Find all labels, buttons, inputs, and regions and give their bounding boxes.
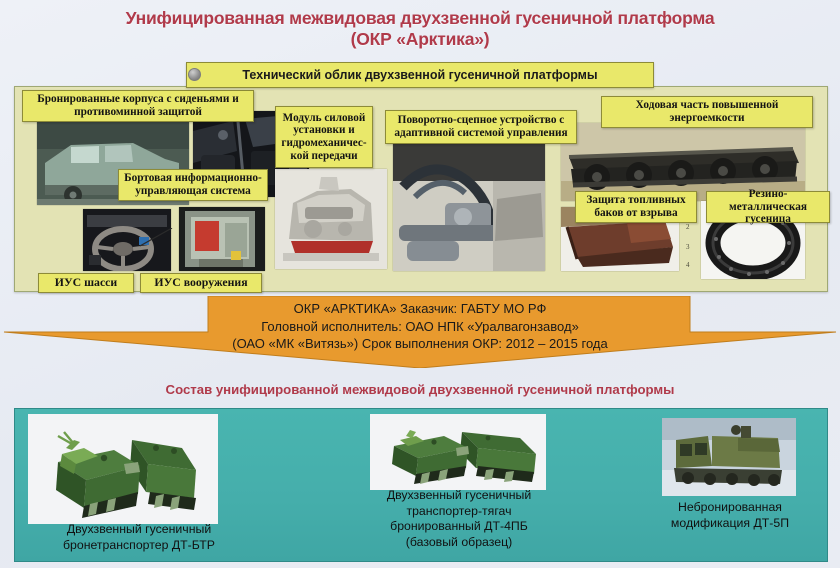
caption-dt-4pb: Двухзвенный гусеничный транспортер-тягач…: [330, 488, 588, 550]
caption-dt-btr: Двухзвенный гусеничный бронетранспортер …: [14, 522, 264, 553]
slide-root: Унифицированная межвидовая двухзвенной г…: [0, 0, 840, 568]
caption-dt-5p-line-1: Небронированная: [630, 500, 830, 516]
title-line-2: (ОКР «Арктика»): [0, 29, 840, 50]
title-line-1: Унифицированная межвидовая двухзвенной г…: [126, 8, 715, 28]
label-running-gear: Ходовая часть повышенной энергоемкости: [601, 96, 813, 128]
label-armored-hull: Бронированные корпуса с сиденьями и прот…: [22, 90, 254, 122]
caption-dt-4pb-line-4: (базовый образец): [330, 535, 588, 551]
caption-dt-4pb-line-1: Двухзвенный гусеничный: [330, 488, 588, 504]
vehicle-image-dt-4pb: [370, 414, 546, 490]
label-running-gear-text: Ходовая часть повышенной энергоемкости: [605, 99, 809, 124]
screw-head-icon: [188, 68, 201, 81]
caption-dt-4pb-line-3: бронированный ДТ-4ПБ: [330, 519, 588, 535]
label-ius-armament: ИУС вооружения: [140, 273, 262, 293]
label-fuel-tank-protection-text: Защита топливных баков от взрыва: [579, 194, 693, 219]
vehicle-image-dt-5p: [662, 418, 796, 496]
label-ius-chassis-text: ИУС шасси: [55, 276, 117, 289]
photo-ius-armament-station: [179, 207, 265, 271]
tick-mark-2: 2: [686, 223, 690, 231]
contract-line-3: (ОАО «МК «Витязь») Срок выполнения ОКР: …: [0, 335, 840, 353]
label-coupling-device-text: Поворотно-сцепное устройство с адаптивно…: [389, 114, 573, 139]
tick-mark-4: 4: [686, 261, 690, 269]
photo-power-module-engine: [275, 169, 387, 269]
page-title: Унифицированная межвидовая двухзвенной г…: [0, 8, 840, 50]
composition-heading: Состав унифицированной межвидовой двухзв…: [0, 382, 840, 397]
contract-text-block: ОКР «АРКТИКА» Заказчик: ГАБТУ МО РФ Голо…: [0, 300, 840, 353]
vehicle-image-dt-btr: [28, 414, 218, 524]
caption-dt-btr-line-2: бронетранспортер ДТ-БТР: [14, 538, 264, 554]
label-coupling-device: Поворотно-сцепное устройство с адаптивно…: [385, 110, 577, 144]
label-armored-hull-text: Бронированные корпуса с сиденьями и прот…: [26, 93, 250, 118]
label-onboard-info-system-text: Бортовая информационно-управляющая систе…: [122, 172, 264, 197]
label-onboard-info-system: Бортовая информационно-управляющая систе…: [118, 169, 268, 201]
label-ius-armament-text: ИУС вооружения: [154, 276, 247, 289]
caption-dt-4pb-line-2: транспортер-тягач: [330, 504, 588, 520]
tick-mark-3: 3: [686, 243, 690, 251]
photo-coupling-device: [393, 141, 545, 271]
label-fuel-tank-protection: Защита топливных баков от взрыва: [575, 191, 697, 223]
label-rubber-metal-track: Резино-металлическая гусеница: [706, 191, 830, 223]
pointer-line: [140, 228, 174, 248]
label-ius-chassis: ИУС шасси: [38, 273, 134, 293]
caption-dt-5p-line-2: модификация ДТ-5П: [630, 516, 830, 532]
contract-arrow-banner: ОКР «АРКТИКА» Заказчик: ГАБТУ МО РФ Голо…: [0, 296, 840, 368]
label-power-module-text: Модуль силовой установки и гидромеханиче…: [279, 112, 369, 162]
label-rubber-metal-track-text: Резино-металлическая гусеница: [710, 188, 826, 226]
caption-dt-btr-line-1: Двухзвенный гусеничный: [14, 522, 264, 538]
label-power-module: Модуль силовой установки и гидромеханиче…: [275, 106, 373, 168]
caption-dt-5p: Небронированная модификация ДТ-5П: [630, 500, 830, 531]
contract-line-1: ОКР «АРКТИКА» Заказчик: ГАБТУ МО РФ: [0, 300, 840, 318]
contract-line-2: Головной исполнитель: ОАО НПК «Уралвагон…: [0, 318, 840, 336]
technical-overview-banner: Технический облик двухзвенной гусеничной…: [186, 62, 654, 88]
